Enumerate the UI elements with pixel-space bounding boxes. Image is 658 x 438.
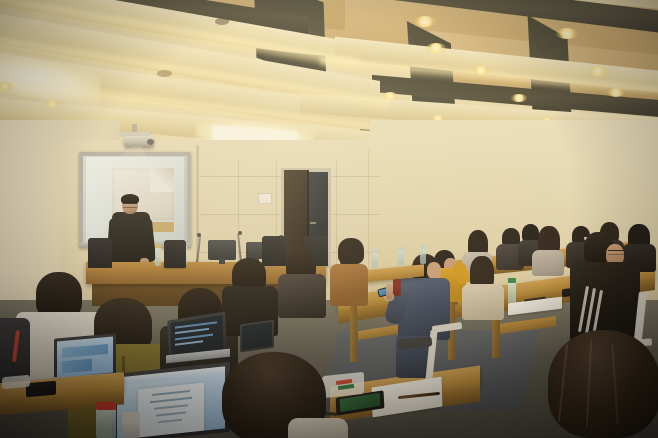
bottle-cap [398,247,404,251]
microphone-head [197,233,201,237]
ceiling-vent [157,70,172,77]
thermos-cup [386,284,393,300]
door-handle[interactable] [310,222,316,224]
student-hair [338,238,364,264]
bottle-cap [122,412,140,419]
downlight [511,94,527,102]
water-bottle [508,282,516,304]
bottle-cap [96,402,116,410]
downlight [556,28,578,39]
wall-tile-joint [336,160,337,270]
ceiling-vent [215,18,229,25]
conference-chair[interactable] [88,238,112,268]
monitor-stand [219,259,225,264]
student-torso [278,274,326,318]
laptop-document-page [138,383,204,438]
foreground-person-hair [548,330,658,438]
bottle-cap [155,244,161,248]
desktop-monitor [208,240,236,260]
wall-tile-joint [368,150,369,270]
water-bottle [420,248,426,264]
downlight [44,100,60,108]
glasses-icon [608,250,624,255]
water-bottle [96,408,116,438]
desk-leg [350,306,357,362]
laptop-screen [242,322,272,350]
glasses-icon [123,203,137,208]
water-bottle [122,418,140,438]
classroom-photo: Lecture in a university seminar classroo… [0,0,658,438]
microphone-head [238,231,242,235]
student-head [427,262,441,279]
bottle-cap [420,245,426,249]
downlight [473,66,489,75]
wall-sign [258,193,272,204]
smartphone[interactable] [26,381,56,398]
projector-lens-icon [147,139,154,145]
water-bottle [398,250,404,266]
water-bottle [372,252,378,268]
bottle-cap [372,249,378,253]
foreground-person-sleeve [288,418,348,438]
conference-chair[interactable] [262,236,286,266]
downlight [607,88,625,97]
student-torso [462,284,504,320]
water-bottle [155,248,161,266]
student-torso [532,250,564,276]
thermos-cup [393,278,401,296]
student-torso [330,264,368,306]
downlight [588,66,608,76]
downlight [414,16,436,27]
tissue-pack [2,375,30,389]
downlight [382,92,398,100]
downlight [426,43,446,53]
bottle-cap [508,278,516,283]
conference-chair[interactable] [164,240,186,268]
